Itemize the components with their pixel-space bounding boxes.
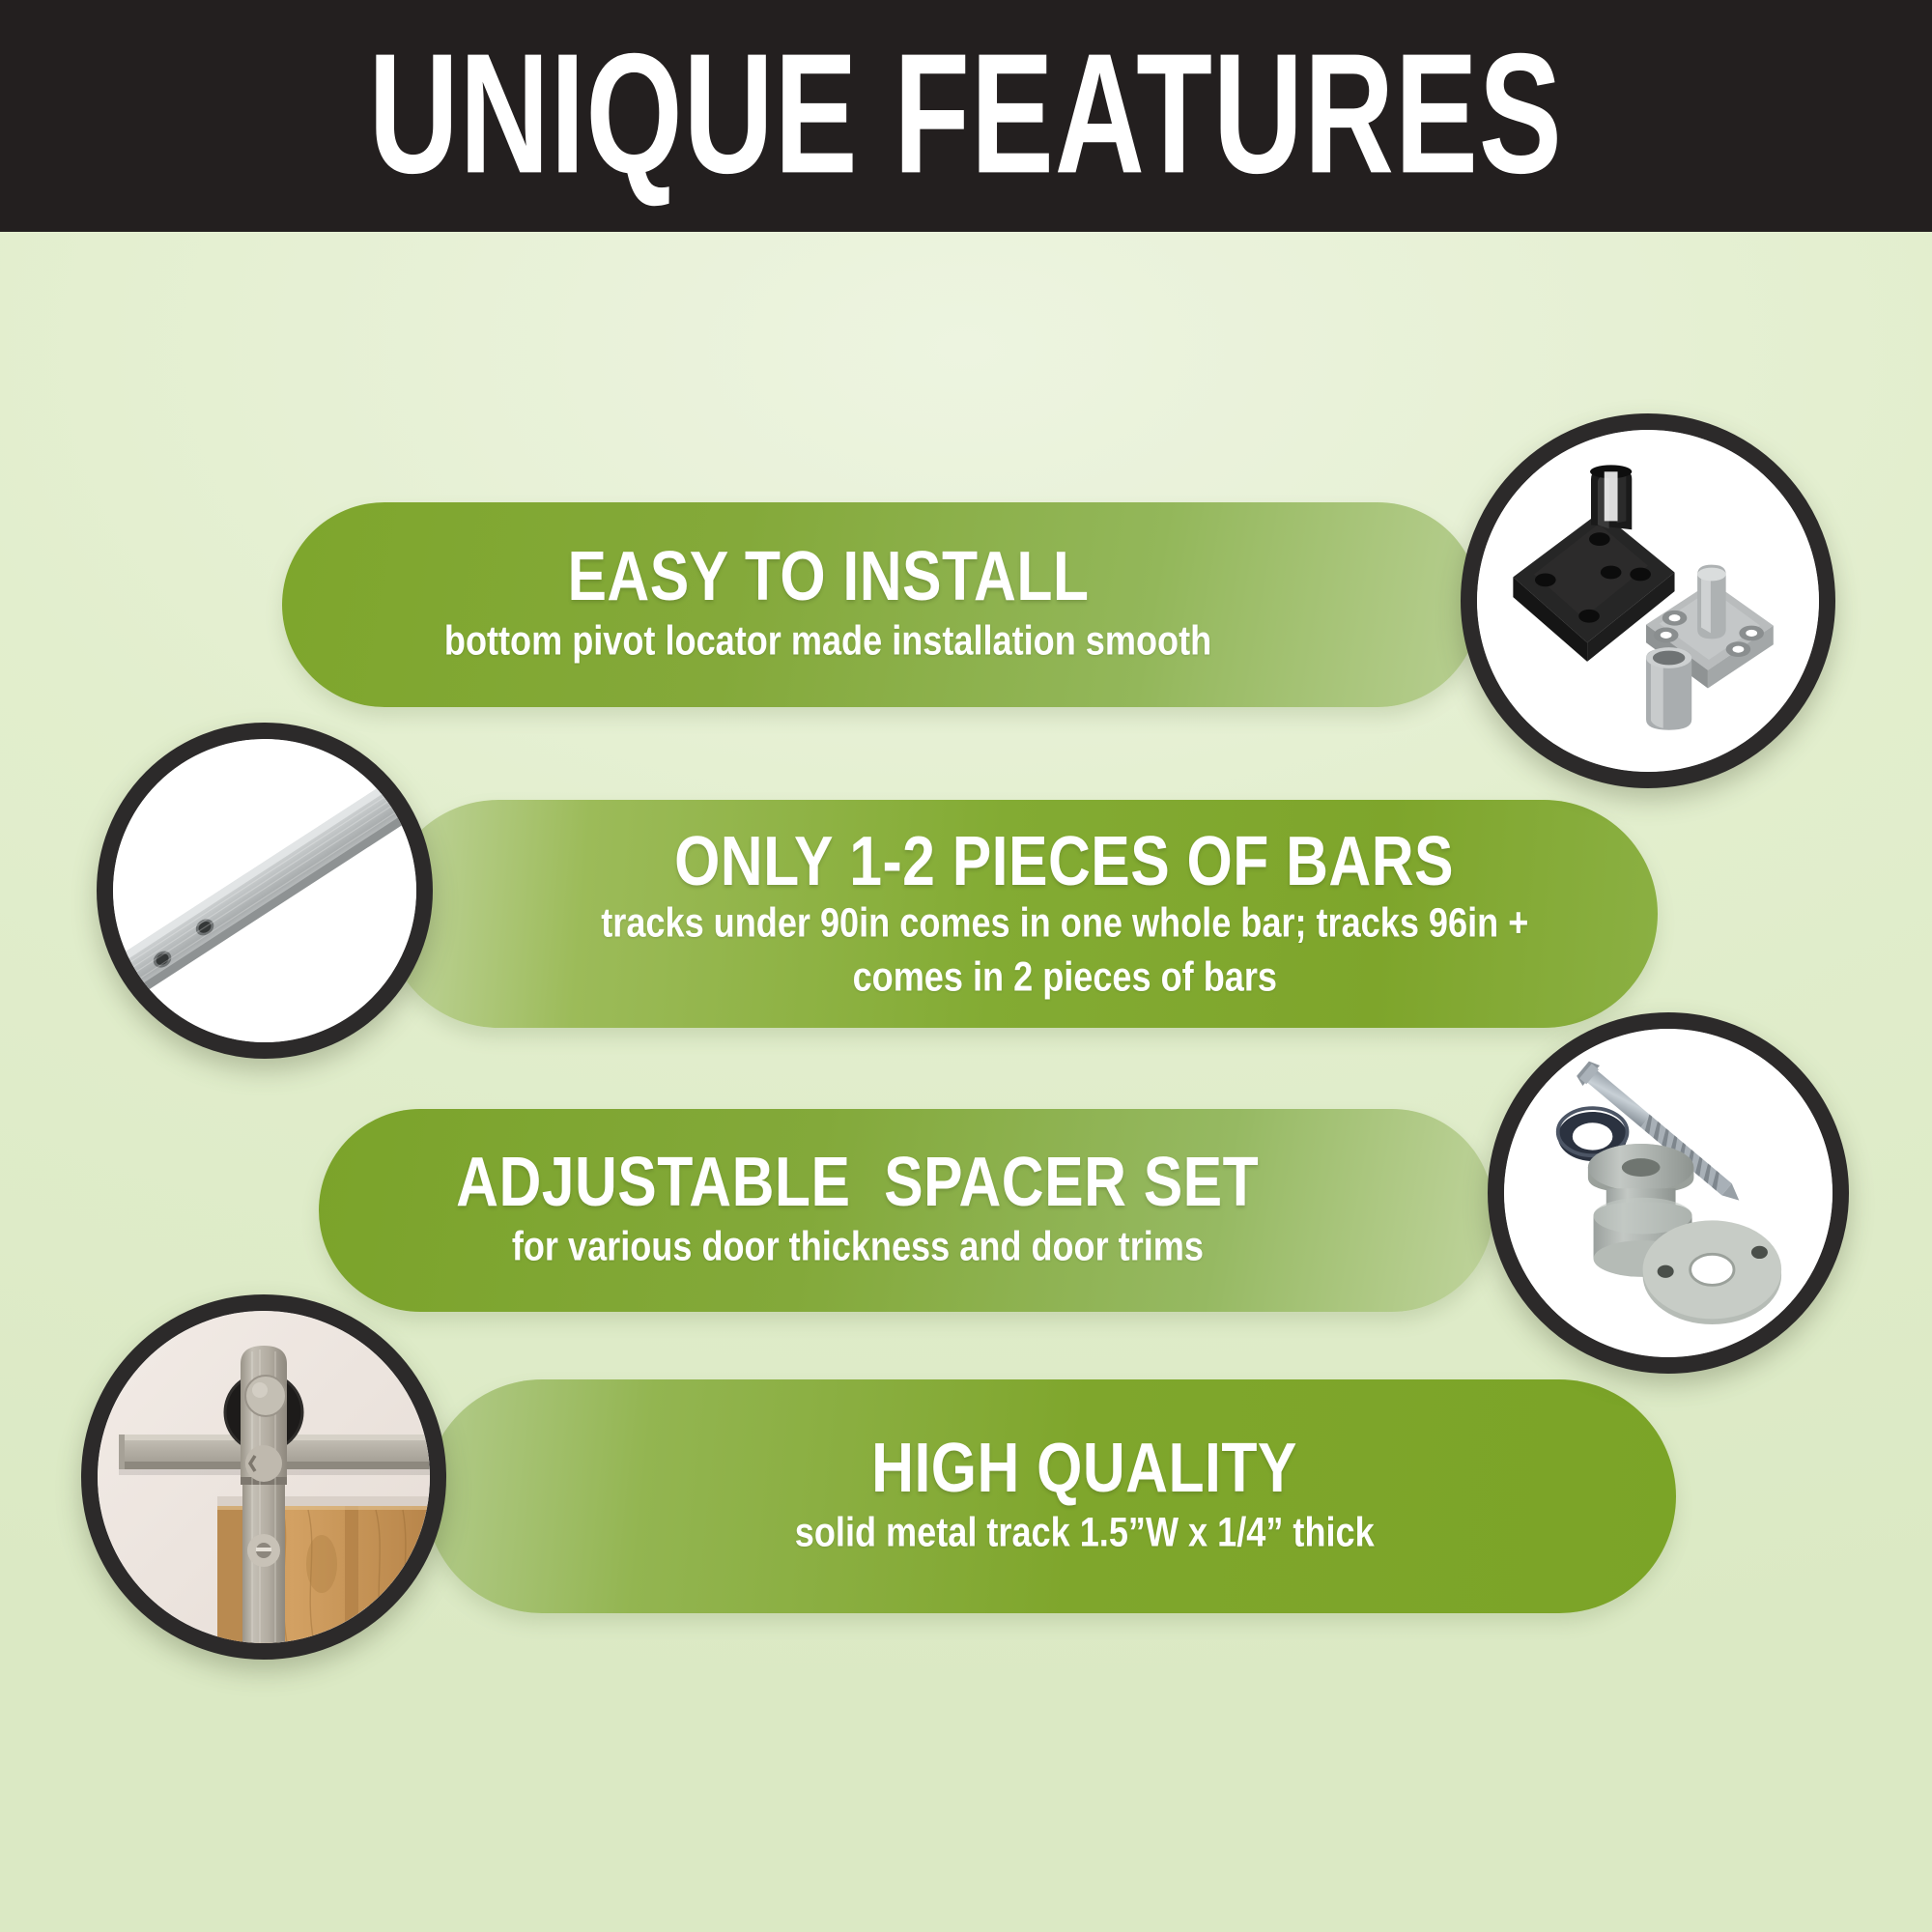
- feature-title-text: HIGH QUALITY: [871, 1433, 1297, 1504]
- feature-title: HIGH QUALITY: [853, 1435, 1316, 1500]
- feature-subtitle: solid metal track 1.5”W x 1/4” thick: [780, 1509, 1389, 1557]
- adjustable-spacer-set-photo: [1488, 1012, 1849, 1374]
- pivot-hardware-illustration: [1477, 430, 1819, 772]
- feature-banner-pieces-of-bars: ONLY 1-2 PIECES OF BARS tracks under 90i…: [384, 800, 1658, 1028]
- feature-banner-high-quality: HIGH QUALITY solid metal track 1.5”W x 1…: [425, 1379, 1676, 1613]
- feature-subtitle: tracks under 90in comes in one whole bar…: [577, 902, 1553, 999]
- installed-hardware-illustration: [98, 1311, 430, 1643]
- photo-inner: [1504, 1029, 1833, 1357]
- feature-subtitle-text: for various door thickness and door trim…: [512, 1220, 1204, 1274]
- feature-title: ADJUSTABLE SPACER SET: [421, 1150, 1293, 1214]
- flat-track-bar-photo: [97, 723, 433, 1059]
- photo-inner: [113, 739, 416, 1042]
- spacer-set-illustration: [1504, 1029, 1833, 1357]
- feature-banner-easy-to-install: EASY TO INSTALL bottom pivot locator mad…: [282, 502, 1480, 707]
- feature-title: ONLY 1-2 PIECES OF BARS: [640, 829, 1488, 894]
- bottom-pivot-locator-photo: [1461, 413, 1835, 788]
- feature-subtitle-text: tracks under 90in comes in one whole bar…: [601, 895, 1528, 1004]
- page-title: UNIQUE FEATURES: [0, 41, 1932, 185]
- page-title-text: UNIQUE FEATURES: [369, 28, 1563, 199]
- header-bar: UNIQUE FEATURES: [0, 0, 1932, 232]
- feature-banner-adjustable-spacer-set: ADJUSTABLE SPACER SET for various door t…: [319, 1109, 1493, 1312]
- infographic-page: UNIQUE FEATURES EASY TO INSTALL bottom p…: [0, 0, 1932, 1932]
- feature-title-text: ADJUSTABLE SPACER SET: [456, 1147, 1259, 1218]
- feature-subtitle-text: solid metal track 1.5”W x 1/4” thick: [795, 1506, 1375, 1560]
- track-bar-illustration: [113, 739, 416, 1042]
- feature-subtitle-text: bottom pivot locator made installation s…: [444, 614, 1211, 668]
- feature-title-text: ONLY 1-2 PIECES OF BARS: [675, 826, 1455, 897]
- feature-title: EASY TO INSTALL: [545, 544, 1112, 609]
- installed-barn-door-hardware-photo: [81, 1294, 446, 1660]
- photo-inner: [1477, 430, 1819, 772]
- photo-inner: [98, 1311, 430, 1643]
- feature-subtitle: for various door thickness and door trim…: [494, 1223, 1222, 1271]
- feature-subtitle: bottom pivot locator made installation s…: [424, 617, 1232, 666]
- feature-title-text: EASY TO INSTALL: [567, 541, 1089, 612]
